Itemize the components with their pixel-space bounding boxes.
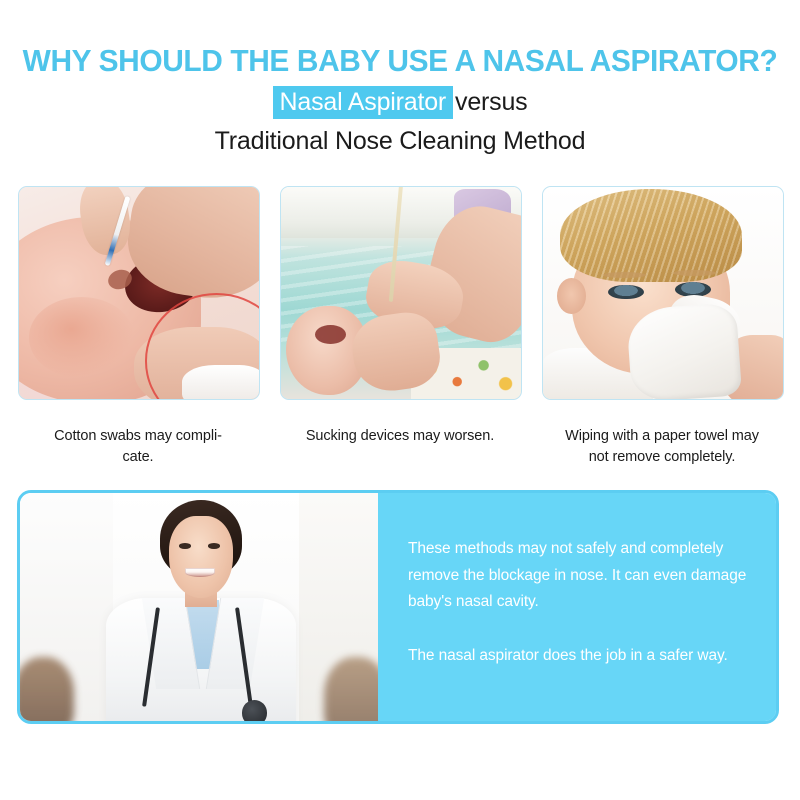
caption-cotton-swab: Cotton swabs may compli- cate. <box>18 412 258 467</box>
conclusion-panel: These methods may not safely and complet… <box>17 490 779 724</box>
caption-row: Cotton swabs may compli- cate. Sucking d… <box>18 412 782 467</box>
doctor-eye-right <box>208 543 220 548</box>
photo2-baby-mouth <box>315 325 346 344</box>
caption-2-line-1: Sucking devices may worsen. <box>306 428 494 444</box>
photo-suction-device-baby <box>280 186 522 400</box>
versus-label: versus <box>455 88 527 116</box>
photo1-baby-cheek <box>29 297 135 378</box>
comparison-card-row <box>18 186 782 400</box>
photo3-eyebrow-right <box>673 270 716 276</box>
photo3-eye-left <box>608 285 644 300</box>
conclusion-text-area: These methods may not safely and complet… <box>378 493 776 721</box>
caption-paper-towel: Wiping with a paper towel may not remove… <box>542 412 782 467</box>
caption-3-line-2: not remove completely. <box>589 449 736 465</box>
doctor-blurred-person-right <box>324 657 378 721</box>
subtitle-comparison-line: Nasal Aspiratorversus <box>0 90 800 115</box>
comparison-card-paper-towel <box>542 186 782 400</box>
photo3-paper-towel <box>626 302 743 400</box>
comparison-card-cotton-swab <box>18 186 258 400</box>
caption-1-line-2: cate. <box>123 449 154 465</box>
doctor-face <box>169 516 233 598</box>
stethoscope-chestpiece <box>242 700 267 721</box>
photo3-hair-texture <box>560 189 742 282</box>
nasal-aspirator-highlight: Nasal Aspirator <box>273 86 454 119</box>
page-title: WHY SHOULD THE BABY USE A NASAL ASPIRATO… <box>8 46 792 77</box>
photo-paper-towel-boy <box>542 186 784 400</box>
conclusion-paragraph-2: The nasal aspirator does the job in a sa… <box>408 643 750 670</box>
conclusion-paragraph-1: These methods may not safely and complet… <box>408 536 750 616</box>
photo-cotton-swab-baby <box>18 186 260 400</box>
doctor-eye-left <box>179 543 191 548</box>
comparison-card-suction-device <box>280 186 520 400</box>
subtitle-method-line: Traditional Nose Cleaning Method <box>0 129 800 154</box>
photo-female-doctor <box>20 493 378 721</box>
caption-1-line-1: Cotton swabs may compli- <box>54 428 222 444</box>
doctor-blurred-person-left <box>20 657 74 721</box>
header: WHY SHOULD THE BABY USE A NASAL ASPIRATO… <box>0 0 800 154</box>
caption-suction-device: Sucking devices may worsen. <box>280 412 520 467</box>
caption-3-line-1: Wiping with a paper towel may <box>565 428 759 444</box>
